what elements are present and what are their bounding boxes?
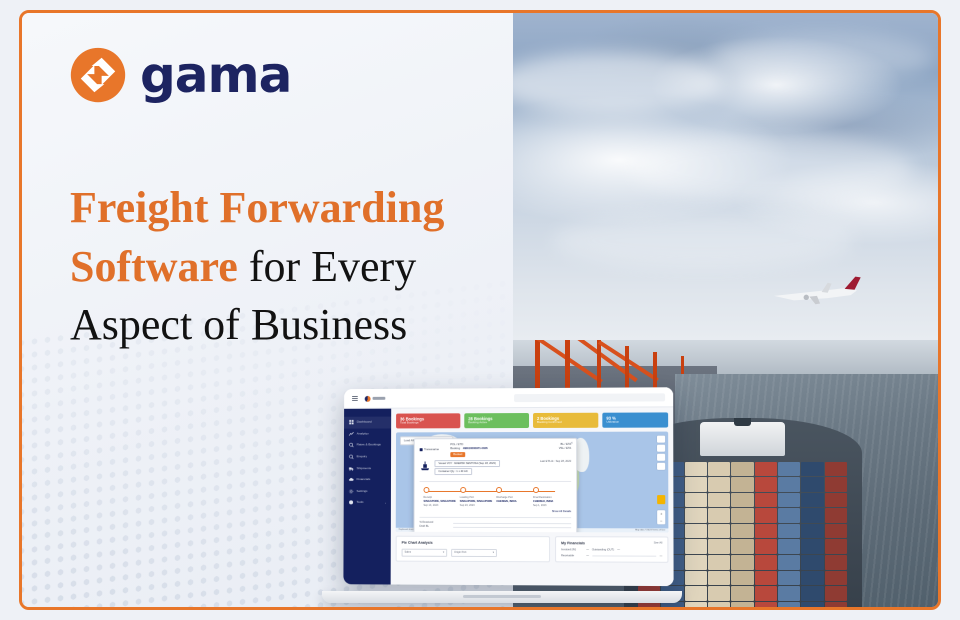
sidebar-item-label: Settings — [357, 490, 368, 493]
shipping-container — [801, 477, 823, 492]
timeline-date: Sep 14, 2023 — [423, 504, 457, 508]
shipping-container — [685, 539, 707, 554]
grid-icon — [349, 420, 354, 425]
shipment-map[interactable]: Load All Shipments ▾ — [396, 431, 669, 532]
chart-line-icon — [349, 431, 354, 436]
search-icon — [349, 454, 354, 459]
shipping-container — [778, 539, 800, 554]
pie-select-dimension[interactable]: Origin Port ▾ — [451, 549, 497, 557]
stat-label: Booking Active — [468, 421, 525, 425]
shipping-container — [731, 508, 753, 523]
ship-bridge — [700, 422, 786, 456]
map-type-icon[interactable] — [657, 435, 665, 442]
shipping-container — [708, 524, 730, 539]
stat-card-booking-confirmed[interactable]: 2 Bookings Booking Confirmed — [533, 413, 598, 428]
sidebar-item-label: Financials — [357, 478, 371, 481]
gama-logo-mark-icon — [69, 46, 127, 104]
chevron-right-icon: › — [385, 501, 386, 505]
page-title: Freight Forwarding Software for Every As… — [70, 179, 510, 355]
map-controls[interactable] — [657, 435, 665, 469]
close-icon[interactable]: ✕ — [570, 441, 573, 445]
sidebar-item-dashboard[interactable]: Dashboard — [344, 417, 391, 429]
shipping-container — [778, 602, 800, 607]
shipping-container — [708, 477, 730, 492]
search-input[interactable] — [514, 393, 665, 402]
dashboard-lower-panels: Pie Chart Analysis Sales ▾ Origin — [396, 536, 669, 563]
shipping-container — [685, 602, 707, 607]
ruler-icon[interactable] — [657, 445, 665, 452]
shipping-container — [825, 571, 847, 586]
timeline-dot-icon — [496, 487, 502, 493]
shipping-container — [708, 462, 730, 477]
shipping-container — [755, 493, 777, 508]
search-icon — [349, 443, 354, 448]
timeline-dot-icon — [460, 487, 466, 493]
stat-card-utilization[interactable]: 93 % Utilization — [602, 412, 668, 427]
shipping-container — [755, 571, 777, 586]
airplane-icon — [771, 275, 863, 309]
dashboard-app: Dashboard Analytics Rates & Bookings — [343, 387, 673, 586]
shipping-container — [825, 539, 847, 554]
shipping-container — [731, 539, 753, 554]
street-view-icon[interactable] — [657, 495, 665, 504]
chevron-down-icon: ▾ — [443, 551, 444, 554]
timeline-date: Sep 1, 2023 — [533, 504, 567, 508]
dashboard-main: 36 Bookings Total Bookings 28 Bookings B… — [391, 407, 674, 586]
dashboard-topbar — [344, 387, 673, 409]
shipping-container — [755, 602, 777, 607]
shipping-container — [708, 539, 730, 554]
shipment-detail-popup[interactable]: ✕ Transmarine POL / ETD — [414, 438, 578, 533]
sidebar-item-rates-bookings[interactable]: Rates & Bookings — [344, 440, 391, 452]
shipping-container — [685, 508, 707, 523]
shipping-container — [801, 555, 823, 570]
shipping-container — [825, 602, 847, 607]
stat-label: Total Bookings — [400, 421, 456, 425]
tools-icon — [349, 500, 354, 505]
sidebar-item-label: Enquiry — [357, 455, 367, 458]
sidebar-item-financials[interactable]: Financials — [344, 474, 391, 486]
vessel-pill: Vessel VOY : MAERSK SENTOSA (Sep 18, 202… — [434, 460, 499, 467]
laptop-screen: Dashboard Analytics Rates & Bookings — [343, 387, 673, 586]
shipping-container — [708, 571, 730, 586]
shipping-container — [755, 586, 777, 601]
hamburger-menu-icon[interactable] — [352, 396, 358, 401]
cloud-icon — [349, 477, 354, 482]
shipping-container — [685, 462, 707, 477]
pie-chart-panel: Pie Chart Analysis Sales ▾ Origin — [396, 536, 550, 563]
shipping-container — [801, 602, 823, 607]
timeline-node[interactable]: Final Destination CHENNAI, INDIA Sep 1, … — [533, 487, 567, 507]
laptop-notch — [463, 595, 541, 598]
sidebar-item-shipments[interactable]: Shipments — [344, 463, 391, 475]
sidebar-item-label: Rates & Bookings — [357, 444, 381, 447]
timeline-date: Sep 20, 2023 — [460, 504, 494, 508]
popup-extra-row: Draft BL — [419, 525, 571, 530]
eta-note: Last ETA At : Sep 28, 2023 — [540, 460, 571, 463]
headline-line-3: Aspect of Business — [70, 296, 510, 355]
container-pill: Container Qty : 1 x 40 HC — [434, 468, 471, 475]
headline-line-2: Software for Every — [70, 238, 510, 297]
shipping-container — [778, 555, 800, 570]
sidebar-item-tools[interactable]: Tools › — [344, 497, 391, 509]
shipping-container — [825, 462, 847, 477]
shipping-container — [778, 524, 800, 539]
shipping-container — [825, 493, 847, 508]
gear-icon — [349, 489, 354, 494]
sky-background — [513, 13, 938, 340]
stat-label: Utilization — [606, 421, 664, 425]
popup-row: Booking#BKG0000971-0026 — [450, 447, 542, 451]
financial-row: Invoiced (IN) — Outstanding (OUT) — — [561, 548, 662, 551]
timeline-value: CHENNAI, INDIA — [496, 500, 530, 504]
shipping-container — [801, 524, 823, 539]
orange-frame: gama Freight Forwarding Software for Eve… — [19, 10, 941, 610]
popup-right-row: VSL / ETA — [547, 447, 571, 451]
chevron-down-icon: ▾ — [493, 551, 494, 554]
shipping-container — [708, 586, 730, 601]
shipping-container — [731, 462, 753, 477]
shipment-timeline: Receipt SINGAPORE, SINGAPORE Sep 14, 202… — [420, 481, 572, 507]
shipping-container — [731, 477, 753, 492]
timeline-node[interactable]: Discharge Port CHENNAI, INDIA — [496, 487, 530, 507]
shipping-container — [825, 586, 847, 601]
shipping-container — [685, 477, 707, 492]
panel-title: Pie Chart Analysis — [402, 541, 433, 545]
shipping-container — [778, 493, 800, 508]
ship-icon — [420, 460, 431, 471]
timeline-dot-icon — [424, 487, 430, 493]
sidebar-item-settings[interactable]: Settings — [344, 486, 391, 498]
shipping-container — [685, 586, 707, 601]
sidebar-item-enquiry[interactable]: Enquiry — [344, 451, 391, 463]
brand-name: gama — [140, 50, 291, 100]
stat-card-row: 36 Bookings Total Bookings 28 Bookings B… — [396, 412, 668, 428]
timeline-node[interactable]: Receipt SINGAPORE, SINGAPORE Sep 14, 202… — [423, 487, 457, 507]
truck-icon — [349, 466, 354, 471]
timeline-node[interactable]: Loading Port SINGAPORE, SINGAPORE Sep 20… — [460, 487, 494, 507]
pen-icon[interactable] — [657, 454, 665, 461]
sidebar-item-analytics[interactable]: Analytics — [344, 428, 391, 440]
show-all-details-link[interactable]: Show All Details — [419, 510, 571, 513]
stat-card-total-bookings[interactable]: 36 Bookings Total Bookings — [396, 413, 460, 428]
shipping-container — [825, 555, 847, 570]
brand-logo[interactable]: gama — [69, 46, 291, 104]
see-all-link[interactable]: See All — [654, 542, 663, 545]
laptop-mockup: Dashboard Analytics Rates & Bookings — [322, 388, 682, 610]
headline-line-1: Freight Forwarding — [70, 179, 510, 238]
shipping-container — [825, 477, 847, 492]
shipping-container — [708, 602, 730, 607]
shipping-container — [708, 555, 730, 570]
shipping-container — [778, 571, 800, 586]
sidebar-item-label: Analytics — [357, 432, 369, 435]
shipping-container — [801, 462, 823, 477]
shipping-container — [731, 586, 753, 601]
shipping-container — [685, 493, 707, 508]
sidebar-item-label: Dashboard — [357, 421, 372, 424]
stat-label: Booking Confirmed — [537, 421, 594, 425]
panel-title: My Financials — [561, 541, 585, 545]
stat-card-booking-active[interactable]: 28 Bookings Booking Active — [464, 413, 529, 428]
pie-select-metric[interactable]: Sales ▾ — [402, 549, 448, 557]
shipping-container — [685, 555, 707, 570]
zoom-out-button[interactable]: − — [657, 517, 665, 524]
shipping-container — [755, 555, 777, 570]
shipping-container — [801, 539, 823, 554]
shipping-container — [731, 493, 753, 508]
popup-extra-rows: % Received Draft BL — [419, 517, 571, 530]
shipping-container — [801, 508, 823, 523]
financials-panel: My Financials See All Invoiced (IN) — Ou… — [555, 536, 668, 563]
timeline-dot-icon — [533, 487, 539, 493]
map-attrib-right: Map data ©2023 Terms of Use — [635, 529, 665, 531]
shipping-container — [825, 524, 847, 539]
shipping-container — [731, 571, 753, 586]
popup-company: Transmarine — [420, 443, 446, 457]
financial-row: Receivable — — — [561, 554, 662, 557]
shipping-container — [731, 524, 753, 539]
status-badge: Booked — [450, 453, 465, 458]
shipping-container — [801, 493, 823, 508]
zoom-in-button[interactable]: + — [657, 510, 665, 517]
map-zoom-controls[interactable]: + − — [657, 510, 665, 524]
shipping-container — [708, 493, 730, 508]
shipping-container — [778, 508, 800, 523]
shipping-container — [755, 539, 777, 554]
shipping-container — [825, 508, 847, 523]
layers-icon[interactable] — [657, 463, 665, 470]
shipping-container — [755, 477, 777, 492]
dashboard-sidebar: Dashboard Analytics Rates & Bookings — [343, 409, 391, 586]
shipping-container — [731, 602, 753, 607]
hero-banner: gama Freight Forwarding Software for Eve… — [0, 0, 960, 620]
shipping-container — [731, 555, 753, 570]
shipping-container — [778, 477, 800, 492]
shipping-container — [755, 524, 777, 539]
shipping-container — [708, 508, 730, 523]
shipping-container — [801, 571, 823, 586]
shipping-container — [755, 462, 777, 477]
shipping-container — [755, 508, 777, 523]
sidebar-item-label: Tools — [356, 501, 363, 504]
shipping-container — [801, 586, 823, 601]
shipping-container — [778, 462, 800, 477]
shipping-container — [778, 586, 800, 601]
shipping-container — [685, 524, 707, 539]
shipping-container — [685, 571, 707, 586]
sidebar-item-label: Shipments — [357, 467, 371, 470]
dashboard-logo[interactable] — [365, 395, 386, 401]
